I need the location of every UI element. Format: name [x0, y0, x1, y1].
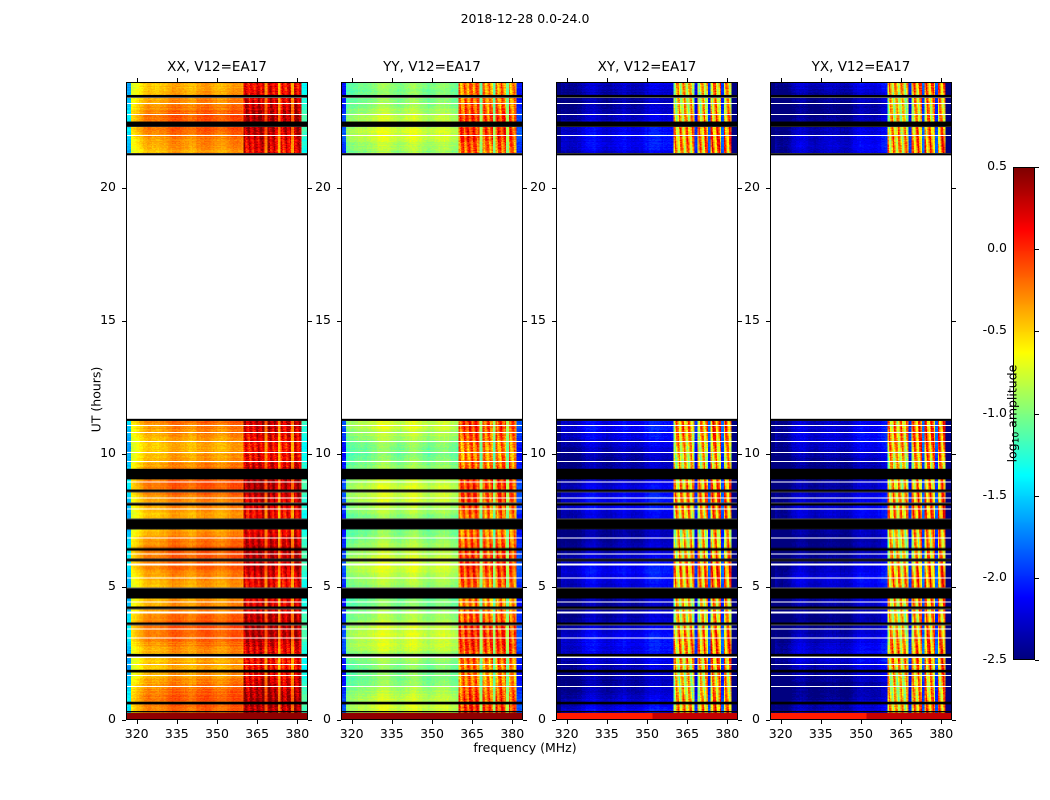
y-tick-label: 15 [512, 312, 546, 327]
y-tick-label: 5 [82, 578, 116, 593]
x-tick-label: 320 [332, 726, 372, 741]
x-tick-mark-top [432, 78, 433, 82]
spectrum-panel-xy[interactable] [556, 82, 738, 720]
x-tick-mark [941, 720, 942, 724]
y-tick-mark-right [952, 454, 956, 455]
y-tick-mark [122, 188, 126, 189]
x-tick-mark-top [821, 78, 822, 82]
colorbar-label: log10 amplitude [1005, 353, 1022, 473]
x-tick-mark [901, 720, 902, 724]
x-tick-label: 350 [841, 726, 881, 741]
x-tick-mark-top [647, 78, 648, 82]
y-tick-mark-right [952, 720, 956, 721]
y-tick-mark [766, 720, 770, 721]
y-tick-label: 5 [726, 578, 760, 593]
spectrum-panel-yx[interactable] [770, 82, 952, 720]
x-tick-mark [567, 720, 568, 724]
y-tick-label: 15 [297, 312, 331, 327]
y-tick-label: 15 [726, 312, 760, 327]
panel-title-xx: XX, V12=EA17 [126, 59, 308, 75]
x-tick-mark-top [137, 78, 138, 82]
x-tick-mark-top [861, 78, 862, 82]
colorbar-tick-label: -1.5 [967, 487, 1007, 502]
colorbar-tick-label: -0.5 [967, 322, 1007, 337]
y-tick-mark [552, 321, 556, 322]
y-tick-label: 0 [297, 711, 331, 726]
spectrum-panel-xx[interactable] [126, 82, 308, 720]
x-tick-mark-top [352, 78, 353, 82]
spectrogram-image-xx [127, 83, 307, 719]
x-tick-label: 335 [372, 726, 412, 741]
y-tick-label: 20 [512, 179, 546, 194]
x-tick-mark [217, 720, 218, 724]
colorbar-tick-label: -1.0 [967, 405, 1007, 420]
y-tick-mark-right [952, 587, 956, 588]
y-tick-mark [766, 188, 770, 189]
x-tick-mark [352, 720, 353, 724]
x-tick-mark-top [297, 78, 298, 82]
y-tick-mark [337, 321, 341, 322]
y-tick-label: 10 [82, 445, 116, 460]
y-tick-mark [122, 720, 126, 721]
x-tick-label: 350 [627, 726, 667, 741]
y-tick-mark [337, 188, 341, 189]
colorbar-tick-label: -2.5 [967, 651, 1007, 666]
colorbar-tick-mark [1035, 578, 1039, 579]
colorbar-tick-mark [1035, 660, 1039, 661]
y-tick-mark-right [952, 188, 956, 189]
colorbar-tick-mark [1035, 414, 1039, 415]
x-tick-mark [137, 720, 138, 724]
colorbar-tick-mark [1035, 249, 1039, 250]
x-tick-mark-top [177, 78, 178, 82]
y-tick-label: 0 [82, 711, 116, 726]
x-tick-label: 380 [277, 726, 317, 741]
y-axis-label: UT (hours) [89, 340, 104, 460]
spectrogram-image-yy [342, 83, 522, 719]
colorbar-tick-label: 0.0 [967, 240, 1007, 255]
colorbar-tick-mark [1035, 496, 1039, 497]
x-tick-label: 320 [547, 726, 587, 741]
y-tick-mark [552, 188, 556, 189]
y-tick-mark [766, 587, 770, 588]
y-tick-mark [766, 321, 770, 322]
y-tick-mark [552, 587, 556, 588]
x-tick-mark [821, 720, 822, 724]
y-tick-label: 5 [297, 578, 331, 593]
spectrum-panel-yy[interactable] [341, 82, 523, 720]
y-tick-label: 20 [726, 179, 760, 194]
spectrogram-image-yx [771, 83, 951, 719]
x-tick-mark-top [901, 78, 902, 82]
x-tick-mark-top [687, 78, 688, 82]
colorbar-label-suffix: amplitude [1005, 364, 1020, 431]
y-tick-label: 20 [297, 179, 331, 194]
x-tick-label: 365 [881, 726, 921, 741]
x-tick-label: 365 [237, 726, 277, 741]
x-tick-label: 335 [801, 726, 841, 741]
x-tick-mark-top [567, 78, 568, 82]
spectrogram-image-xy [557, 83, 737, 719]
x-tick-mark-top [512, 78, 513, 82]
colorbar-tick-label: -2.0 [967, 569, 1007, 584]
x-tick-mark [781, 720, 782, 724]
x-tick-mark [647, 720, 648, 724]
x-tick-label: 335 [587, 726, 627, 741]
x-tick-mark-top [607, 78, 608, 82]
y-tick-label: 0 [512, 711, 546, 726]
y-tick-mark [122, 587, 126, 588]
y-tick-label: 10 [512, 445, 546, 460]
y-tick-label: 0 [726, 711, 760, 726]
y-tick-mark [122, 321, 126, 322]
y-tick-label: 20 [82, 179, 116, 194]
y-tick-label: 15 [82, 312, 116, 327]
figure-suptitle: 2018-12-28 0.0-24.0 [0, 11, 1050, 26]
colorbar-tick-label: 0.5 [967, 158, 1007, 173]
y-tick-mark-right [952, 321, 956, 322]
y-tick-label: 5 [512, 578, 546, 593]
x-tick-mark [392, 720, 393, 724]
x-tick-mark-top [217, 78, 218, 82]
y-tick-mark [552, 454, 556, 455]
x-tick-mark-top [781, 78, 782, 82]
colorbar-tick-mark [1035, 331, 1039, 332]
x-tick-label: 365 [667, 726, 707, 741]
x-tick-label: 335 [157, 726, 197, 741]
colorbar-label-subscript: 10 [1012, 431, 1022, 442]
panel-title-xy: XY, V12=EA17 [556, 59, 738, 75]
colorbar-tick-mark [1035, 167, 1039, 168]
panel-title-yx: YX, V12=EA17 [770, 59, 952, 75]
x-tick-label: 380 [707, 726, 747, 741]
x-tick-label: 350 [197, 726, 237, 741]
x-tick-mark [472, 720, 473, 724]
y-tick-mark [337, 720, 341, 721]
x-tick-mark-top [257, 78, 258, 82]
x-tick-mark [177, 720, 178, 724]
x-tick-label: 320 [761, 726, 801, 741]
x-tick-mark [607, 720, 608, 724]
y-tick-mark [552, 720, 556, 721]
x-tick-label: 380 [921, 726, 961, 741]
y-tick-label: 10 [297, 445, 331, 460]
x-tick-mark [257, 720, 258, 724]
x-tick-label: 365 [452, 726, 492, 741]
x-tick-mark-top [392, 78, 393, 82]
colorbar-label-prefix: log [1005, 443, 1020, 462]
x-tick-mark-top [727, 78, 728, 82]
x-tick-mark-top [472, 78, 473, 82]
x-axis-label: frequency (MHz) [0, 740, 1050, 755]
x-tick-mark [687, 720, 688, 724]
x-tick-mark [432, 720, 433, 724]
x-tick-label: 380 [492, 726, 532, 741]
figure-canvas: 2018-12-28 0.0-24.0 XX, V12=EA17 YY, V12… [0, 0, 1050, 800]
x-tick-label: 320 [117, 726, 157, 741]
y-tick-mark [337, 587, 341, 588]
y-tick-mark [122, 454, 126, 455]
x-tick-mark [861, 720, 862, 724]
panel-title-yy: YY, V12=EA17 [341, 59, 523, 75]
y-tick-label: 10 [726, 445, 760, 460]
y-tick-mark [337, 454, 341, 455]
x-tick-mark-top [941, 78, 942, 82]
x-tick-label: 350 [412, 726, 452, 741]
y-tick-mark [766, 454, 770, 455]
